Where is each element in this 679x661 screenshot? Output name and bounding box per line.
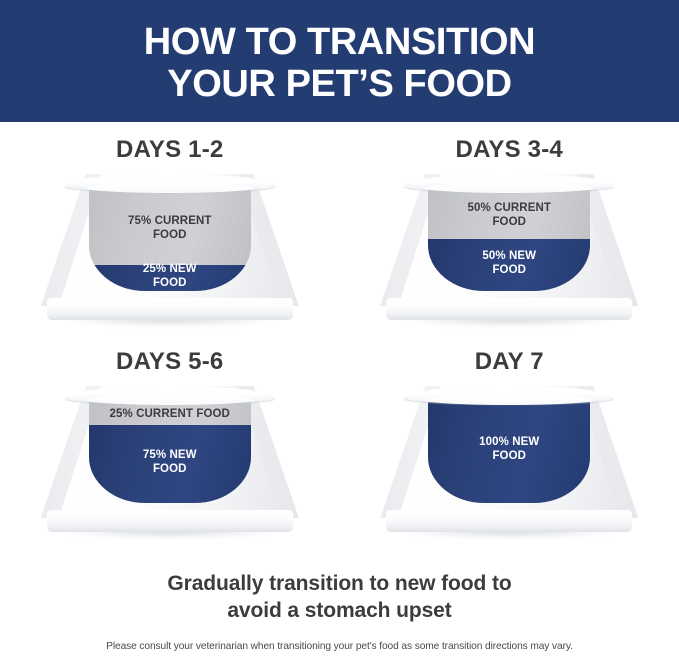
step-title: DAYS 5-6 [116,348,223,376]
footer-disclaimer: Please consult your veterinarian when tr… [0,640,679,654]
step-title: DAYS 3-4 [456,136,563,164]
step-card-days-3-4: DAYS 3-4 50% CURRENT FOOD 50% NEW [340,136,679,348]
step-card-days-5-6: DAYS 5-6 25% CURRENT FOOD 75% NEW [0,348,340,560]
new-food-fill [428,399,590,503]
step-title: DAYS 1-2 [116,136,223,164]
transition-steps-grid: DAYS 1-2 75% CURRENT FOOD 25% NEW [0,122,679,560]
food-bowl-diagram: 50% CURRENT FOOD 50% NEW FOOD [380,174,638,326]
food-bowl-diagram: 25% CURRENT FOOD 75% NEW FOOD [41,386,299,538]
food-bowl-diagram: 100% NEW FOOD [380,386,638,538]
step-card-days-1-2: DAYS 1-2 75% CURRENT FOOD 25% NEW [0,136,340,348]
header-title-line1: HOW TO TRANSITION [144,21,535,63]
bowl-base [47,298,293,320]
bowl-cavity [89,399,251,503]
bowl-cavity [428,187,590,291]
new-food-fill [428,239,590,291]
bowl-rim-inner [425,395,593,405]
bowl-rim-inner [425,183,593,193]
bowl-cavity [89,187,251,291]
step-card-day-7: DAY 7 100% NEW FOOD [340,348,679,560]
new-food-fill [89,265,251,291]
header-title-line2: YOUR PET’S FOOD [167,63,511,105]
header-banner: HOW TO TRANSITION YOUR PET’S FOOD [0,0,679,122]
step-title: DAY 7 [475,348,544,376]
bowl-base [386,298,632,320]
bowl-rim-inner [86,395,254,405]
bowl-cavity [428,399,590,503]
bowl-base [47,510,293,532]
bowl-base [386,510,632,532]
new-food-fill [89,425,251,503]
bowl-rim-inner [86,183,254,193]
footer: Gradually transition to new food to avoi… [0,560,679,654]
footer-message-line1: Gradually transition to new food to [0,570,679,597]
food-bowl-diagram: 75% CURRENT FOOD 25% NEW FOOD [41,174,299,326]
footer-message-line2: avoid a stomach upset [0,597,679,624]
